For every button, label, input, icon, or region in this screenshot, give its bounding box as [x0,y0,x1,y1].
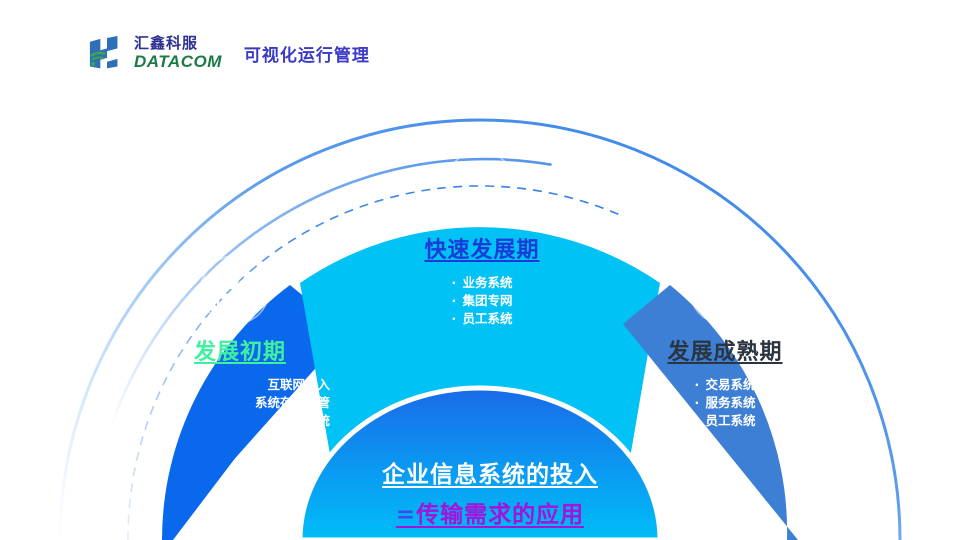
logo-english-name: DATACOM [134,53,222,70]
list-item: · 集团专网 [392,292,572,310]
slide-canvas: 汇鑫科服 DATACOM 可视化运行管理 发展初期 互联网接入 系统存贮托管 办… [0,0,960,540]
segment-middle-heading: 快速发展期 [392,232,572,264]
presentation-chart-icon [690,256,758,324]
equals-sign: = [396,502,416,528]
h-wave-logo-icon [88,36,128,70]
banner-line-1: 企业信息系统的投入 [300,455,680,489]
bullet-icon: · [451,311,458,326]
header: 汇鑫科服 DATACOM 可视化运行管理 [88,36,370,70]
segment-right-items: · 交易系统 · 服务系统 · 员工系统 [630,376,820,429]
list-item: · 交易系统 [630,376,820,394]
list-item: · 服务系统 [630,394,820,412]
user-star-icon [446,151,514,219]
logo-chinese-name: 汇鑫科服 [134,36,222,51]
list-item: · 员工系统 [630,412,820,430]
segment-middle-text: 快速发展期 · 业务系统 · 集团专网 · 员工系统 [392,232,572,327]
page-title: 可视化运行管理 [244,41,370,66]
banner-line-2: =传输需求的应用 [300,495,680,529]
segment-left-text: 发展初期 互联网接入 系统存贮托管 办公系统 [150,334,330,429]
list-item: · 员工系统 [392,310,572,328]
list-item: · 业务系统 [392,274,572,292]
segment-right-heading: 发展成熟期 [630,334,820,366]
list-item: 系统存贮托管 [150,394,330,412]
bullet-icon: · [694,377,701,392]
bullet-icon: · [694,395,701,410]
segment-left-heading: 发展初期 [150,334,330,366]
list-item: 互联网接入 [150,376,330,394]
segment-left-items: 互联网接入 系统存贮托管 办公系统 [150,376,330,429]
bullet-icon: · [694,413,701,428]
bottom-banner-text: 企业信息系统的投入 =传输需求的应用 [300,455,680,529]
bullet-icon: · [451,293,458,308]
list-item: 办公系统 [150,412,330,430]
segment-middle-items: · 业务系统 · 集团专网 · 员工系统 [392,274,572,327]
segment-right-text: 发展成熟期 · 交易系统 · 服务系统 · 员工系统 [630,334,820,429]
brand-logo: 汇鑫科服 DATACOM [88,36,222,70]
bullet-icon: · [451,275,458,290]
document-pencil-icon [201,256,269,324]
